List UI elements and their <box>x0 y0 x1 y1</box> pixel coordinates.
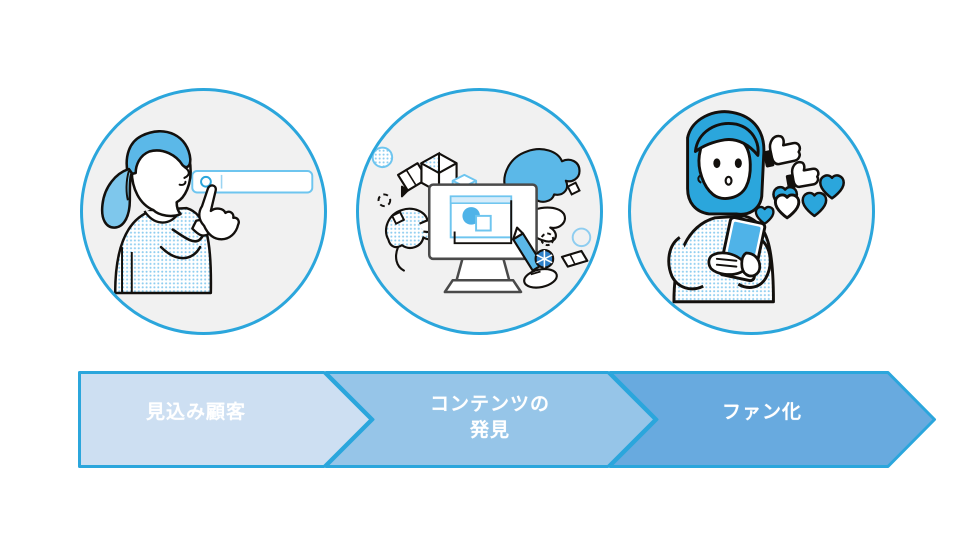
heart-icon <box>775 195 798 218</box>
illustration-circle-prospects <box>80 88 327 335</box>
heart-icon <box>803 193 826 216</box>
illustration-row <box>0 88 960 340</box>
bubble-icon <box>379 194 391 206</box>
mouse-icon <box>522 266 558 290</box>
woman-figure <box>102 131 239 293</box>
funnel-step-3-label: ファン化 <box>662 400 862 426</box>
desktop-content-illustration <box>359 91 600 332</box>
bubble-icon <box>373 148 393 168</box>
hand-icon <box>742 253 760 276</box>
slide-canvas: 見込み顧客 コンテンツの 発見 ファン化 <box>0 0 960 540</box>
bubble-icon <box>573 229 591 247</box>
funnel-step-1-label: 見込み顧客 <box>96 400 296 426</box>
illustration-circle-content <box>356 88 603 335</box>
color-wheel-icon <box>536 250 554 268</box>
eye-icon <box>713 158 720 168</box>
thumbs-up-icon <box>784 159 821 190</box>
woman-smartphone-illustration <box>631 91 872 332</box>
illustration-circle-fans <box>628 88 875 335</box>
woman-searching-illustration <box>83 91 324 332</box>
chip-icon <box>568 183 580 195</box>
artboard-square-shape <box>476 216 491 231</box>
funnel-step-2-label: コンテンツの 発見 <box>382 392 598 443</box>
woman-figure <box>669 112 774 302</box>
eraser-icon <box>562 251 587 267</box>
eye-icon <box>735 158 742 168</box>
